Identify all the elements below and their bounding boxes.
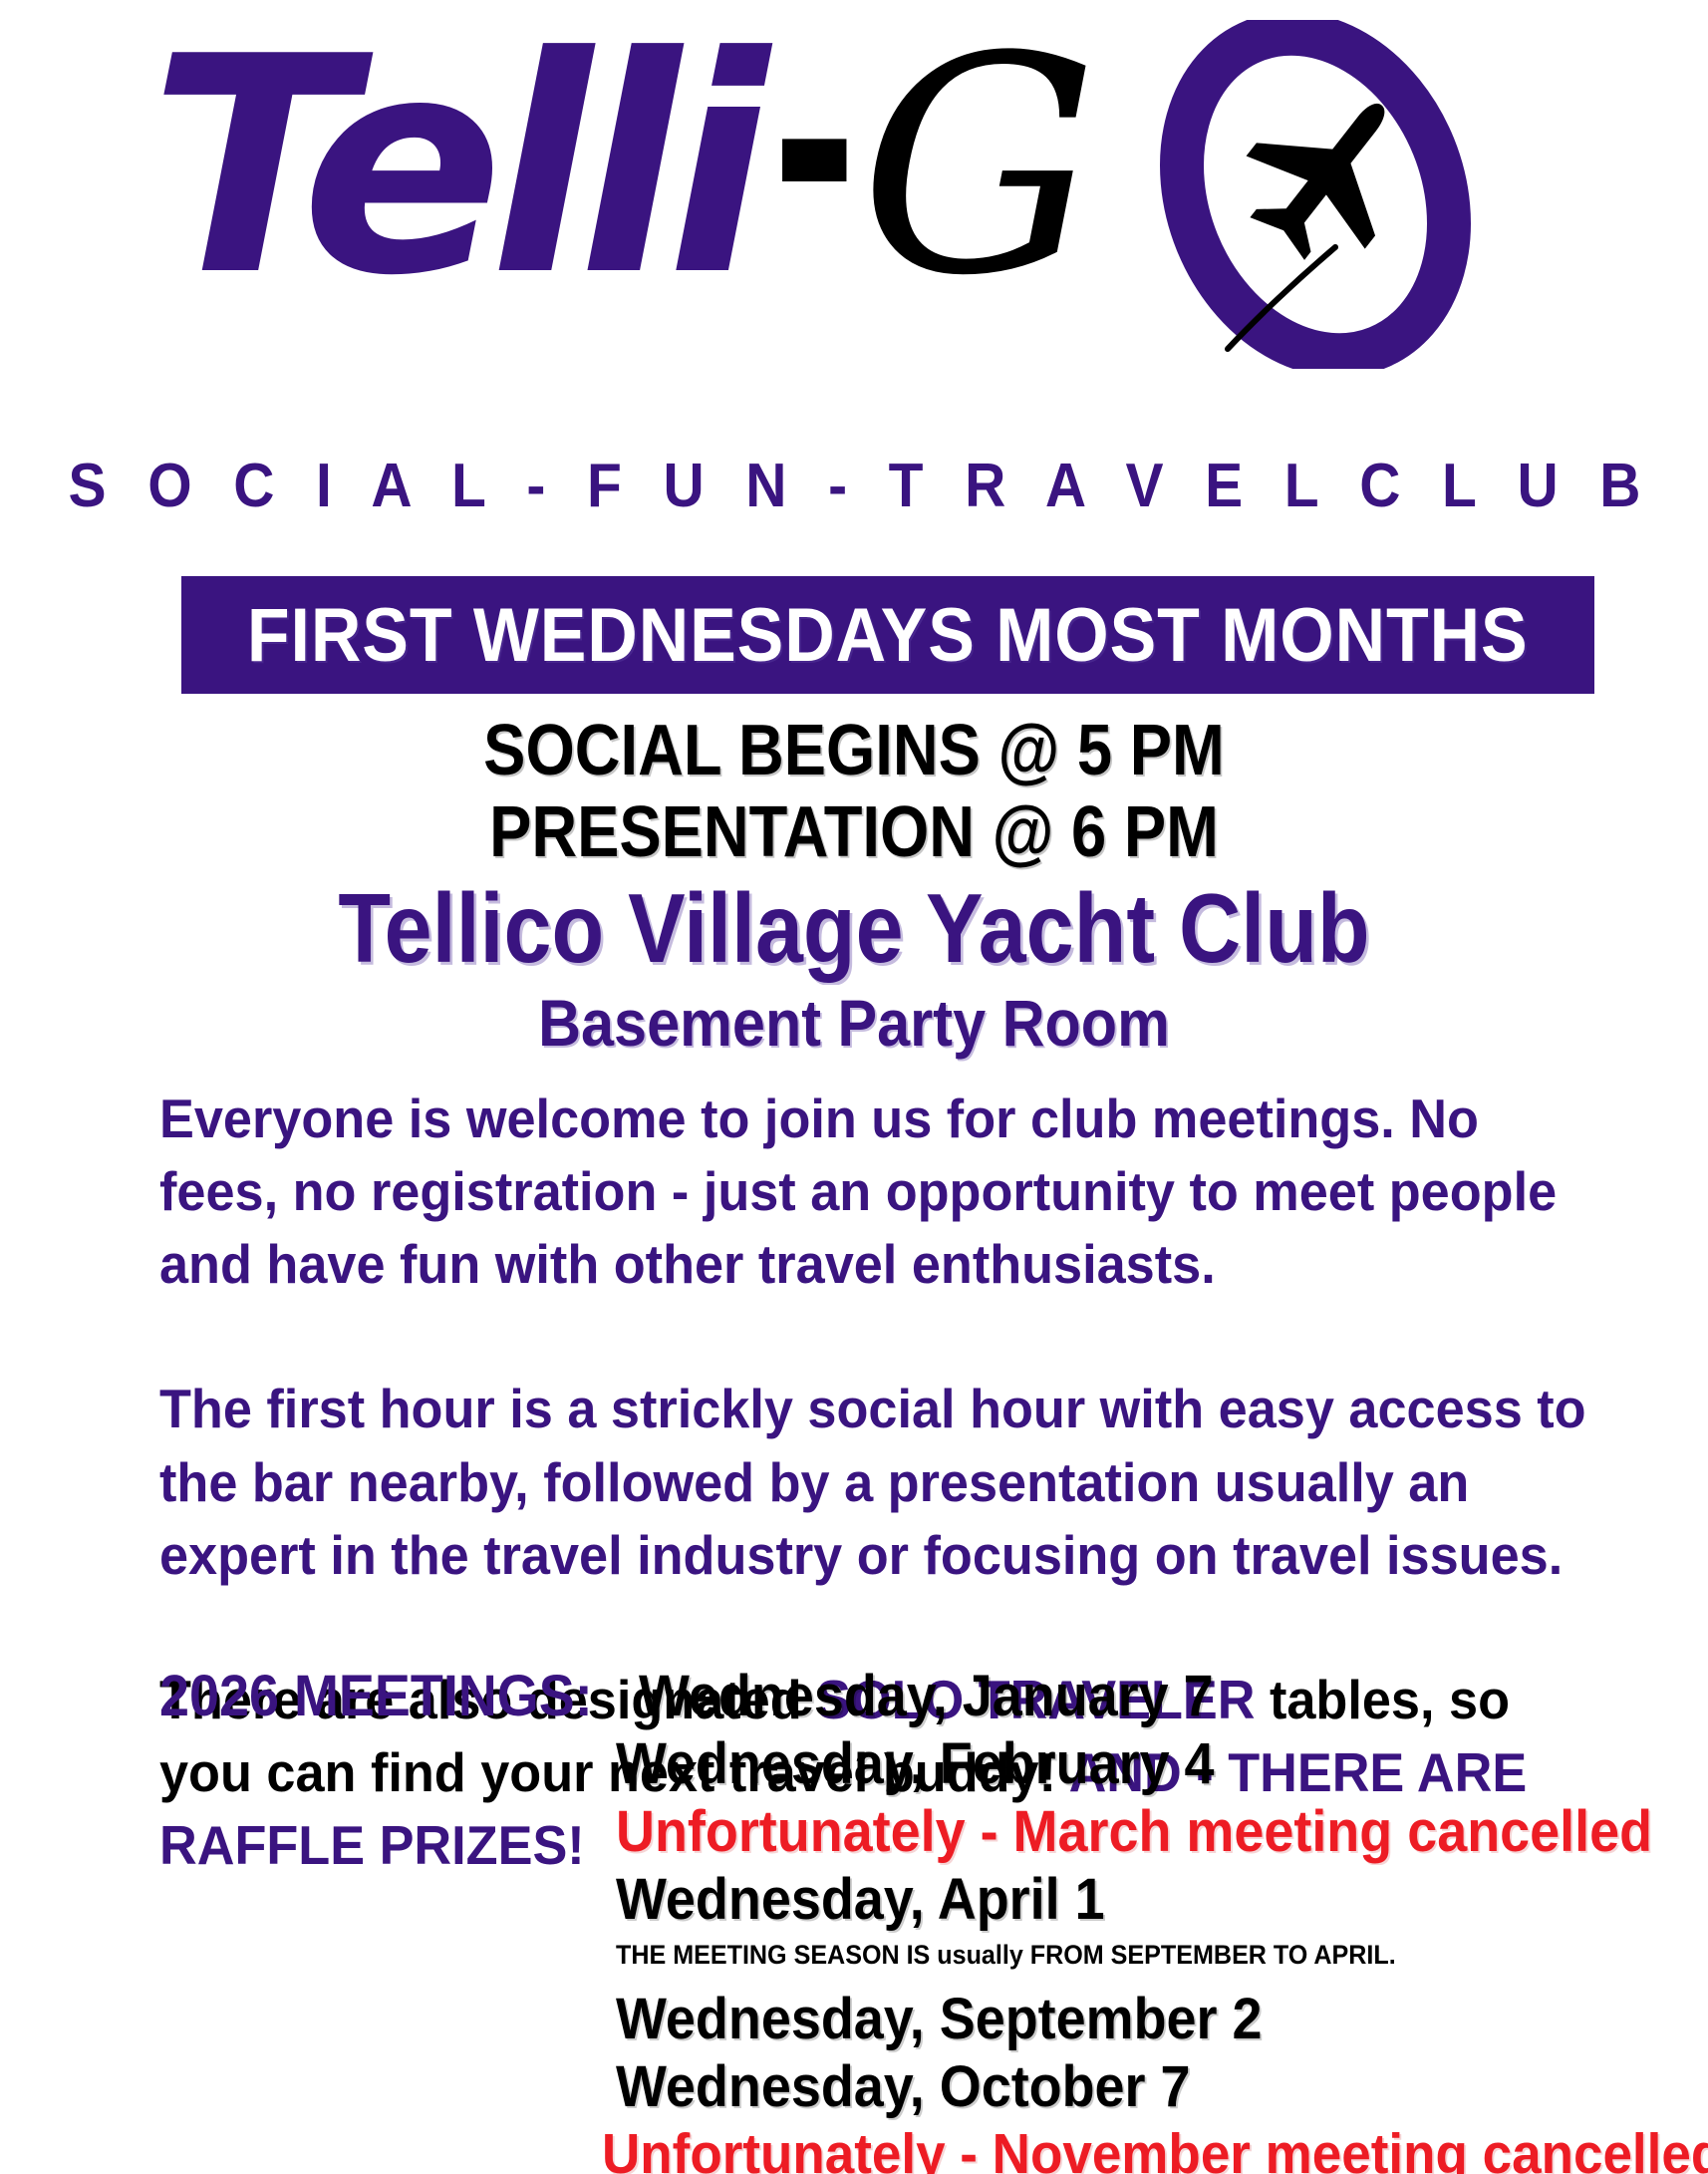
meeting-date-september: Wednesday, September 2 <box>616 1986 1631 2053</box>
meeting-cancelled-march: Unfortunately - March meeting cancelled <box>616 1798 1631 1866</box>
meeting-date-february: Wednesday, February 4 <box>616 1730 1631 1798</box>
meeting-date-january: Wednesday, January 7 <box>639 1663 1214 1730</box>
logo-o-svg <box>1136 20 1495 369</box>
logo-text-telli: Telli <box>149 0 755 341</box>
logo-tagline: S O C I A L - F U N - T R A V E L C L U … <box>69 451 1640 521</box>
meetings-block: 2026 MEETINGS: Wednesday, January 7 Wedn… <box>159 1663 1708 2174</box>
times-block: SOCIAL BEGINS @ 5 PM PRESENTATION @ 6 PM <box>0 710 1708 873</box>
meeting-schedule-banner: FIRST WEDNESDAYS MOST MONTHS <box>181 576 1594 694</box>
meeting-dates-before-note: Wednesday, February 4 Unfortunately - Ma… <box>616 1730 1708 2174</box>
presentation-start-time: PRESENTATION @ 6 PM <box>103 791 1605 873</box>
meeting-cancelled-november: Unfortunately - November meeting cancell… <box>602 2121 1630 2174</box>
logo-text-dash: - <box>771 0 844 293</box>
paragraph-format: The first hour is a strickly social hour… <box>159 1373 1608 1591</box>
meetings-first-row: 2026 MEETINGS: Wednesday, January 7 <box>159 1663 1708 1730</box>
venue-room: Basement Party Room <box>86 987 1623 1060</box>
venue-block: Tellico Village Yacht Club Basement Part… <box>0 877 1708 1059</box>
meetings-year-label: 2026 MEETINGS: <box>159 1663 593 1730</box>
logo-o-with-plane <box>1136 20 1495 369</box>
flyer-page: Telli-G S O C I A L - F U N - T R A V E … <box>0 0 1708 2174</box>
logo-block: Telli-G S O C I A L - F U N - T R A V E … <box>0 0 1708 558</box>
social-start-time: SOCIAL BEGINS @ 5 PM <box>103 710 1605 791</box>
meeting-date-april: Wednesday, April 1 <box>616 1866 1631 1934</box>
meeting-date-october: Wednesday, October 7 <box>616 2053 1631 2121</box>
venue-name: Tellico Village Yacht Club <box>103 877 1605 981</box>
paragraph-welcome: Everyone is welcome to join us for club … <box>159 1083 1608 1301</box>
season-note: THE MEETING SEASON IS usually FROM SEPTE… <box>616 1939 1631 1971</box>
banner-label: FIRST WEDNESDAYS MOST MONTHS <box>247 592 1529 679</box>
logo-text-g: G <box>859 0 1084 341</box>
